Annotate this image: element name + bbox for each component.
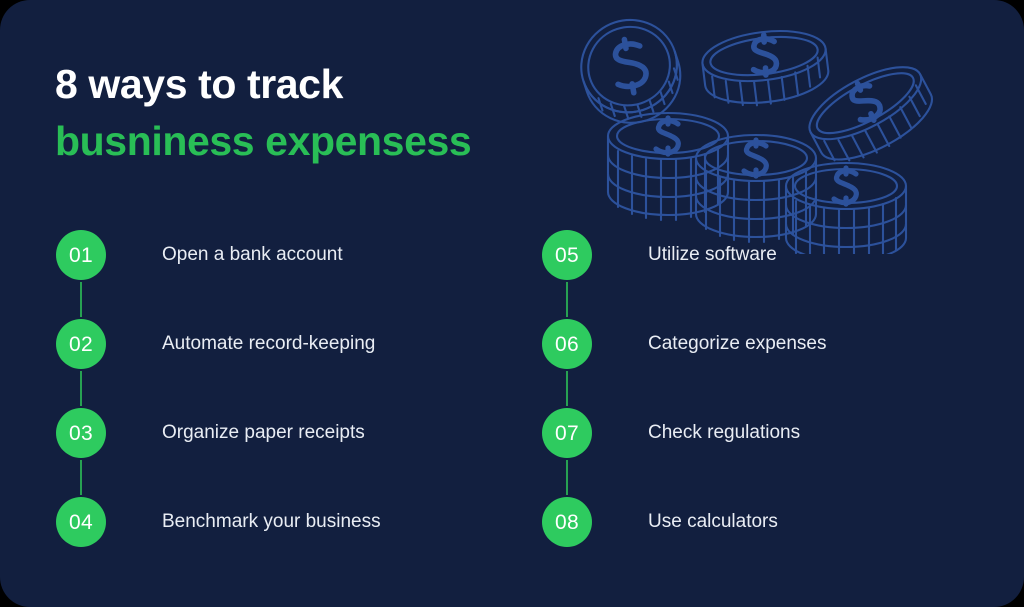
floating-coin-2 [700,25,832,112]
step-label: Open a bank account [162,230,343,280]
step-number: 07 [555,423,579,444]
step-number: 06 [555,334,579,355]
step-badge-01: 01 [56,230,106,280]
coin-stacks-illustration [560,14,980,254]
step-label: Benchmark your business [162,497,381,547]
step-label: Check regulations [648,408,800,458]
step-label: Automate record-keeping [162,319,375,369]
step-number: 05 [555,245,579,266]
step-number: 02 [69,334,93,355]
step-number: 08 [555,512,579,533]
floating-coin-3 [799,53,943,176]
step-connector [80,371,82,406]
coin-stack-3 [786,163,906,254]
step-connector [80,282,82,317]
step-badge-06: 06 [542,319,592,369]
step-connector [566,371,568,406]
step-number: 04 [69,512,93,533]
coin-stack-1 [608,113,728,220]
step-badge-07: 07 [542,408,592,458]
step-connector [80,460,82,495]
coin-stack-2 [696,135,816,242]
infographic-card: 8 ways to track busniness expensess 01 O… [0,0,1024,607]
step-label: Categorize expenses [648,319,827,369]
step-number: 01 [69,245,93,266]
step-label: Use calculators [648,497,778,547]
step-number: 03 [69,423,93,444]
floating-coin-1 [569,14,692,135]
page-title-line-1: 8 ways to track [55,56,471,113]
step-connector [566,460,568,495]
step-badge-03: 03 [56,408,106,458]
page-title: 8 ways to track busniness expensess [55,56,471,170]
step-badge-05: 05 [542,230,592,280]
step-label: Organize paper receipts [162,408,365,458]
step-label: Utilize software [648,230,777,280]
step-badge-08: 08 [542,497,592,547]
step-connector [566,282,568,317]
step-badge-02: 02 [56,319,106,369]
page-title-line-2: busniness expensess [55,113,471,170]
step-badge-04: 04 [56,497,106,547]
